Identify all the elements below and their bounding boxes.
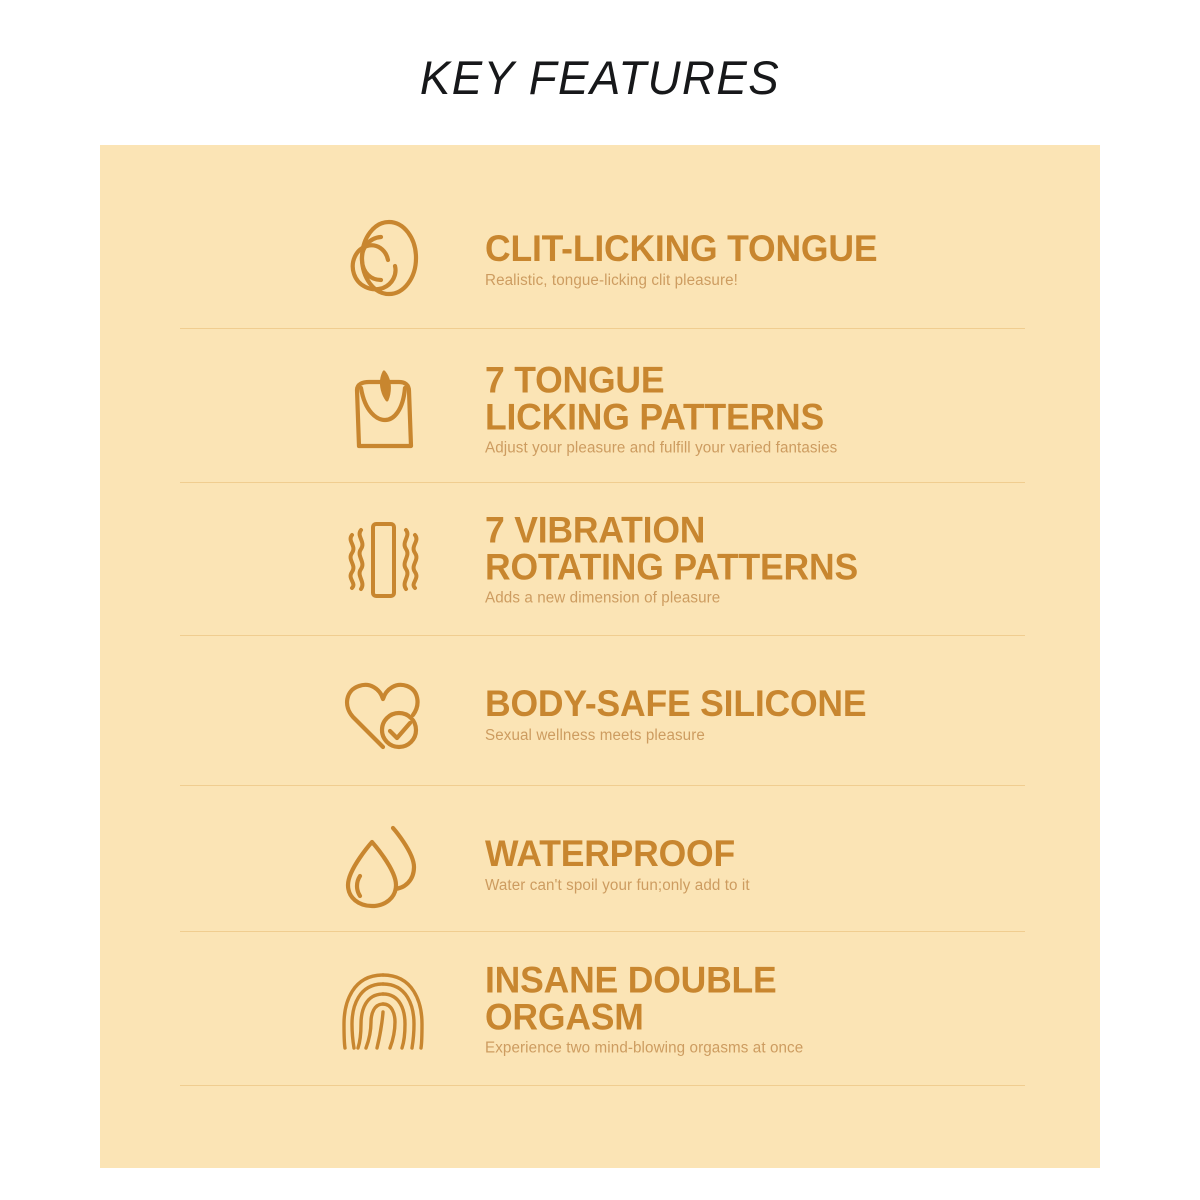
tongue-oval-icon <box>340 217 426 303</box>
vibration-bar-icon <box>340 517 426 603</box>
feature-subtitle: Sexual wellness meets pleasure <box>485 727 1073 744</box>
feature-row: BODY-SAFE SILICONE Sexual wellness meets… <box>100 640 1100 790</box>
nested-arches-icon <box>340 967 426 1053</box>
features-panel: CLIT-LICKING TONGUE Realistic, tongue-li… <box>100 145 1100 1168</box>
feature-title: CLIT-LICKING TONGUE <box>485 231 1061 268</box>
row-divider <box>180 482 1025 483</box>
feature-text: 7 VIBRATION ROTATING PATTERNS Adds a new… <box>485 513 1085 608</box>
water-droplets-icon <box>340 822 426 908</box>
row-divider <box>180 931 1025 932</box>
heart-check-icon <box>340 672 426 758</box>
feature-text: INSANE DOUBLE ORGASM Experience two mind… <box>485 963 1085 1058</box>
feature-title: WATERPROOF <box>485 836 1061 873</box>
row-divider <box>180 785 1025 786</box>
feature-row: CLIT-LICKING TONGUE Realistic, tongue-li… <box>100 185 1100 335</box>
feature-subtitle: Adds a new dimension of pleasure <box>485 590 1073 607</box>
feature-title: BODY-SAFE SILICONE <box>485 686 1061 723</box>
feature-row: WATERPROOF Water can't spoil your fun;on… <box>100 790 1100 940</box>
feature-subtitle: Water can't spoil your fun;only add to i… <box>485 877 1073 894</box>
feature-row: 7 TONGUE LICKING PATTERNS Adjust your pl… <box>100 335 1100 485</box>
page-title: KEY FEATURES <box>18 50 1182 105</box>
feature-title: 7 VIBRATION ROTATING PATTERNS <box>485 513 1061 586</box>
feature-text: BODY-SAFE SILICONE Sexual wellness meets… <box>485 686 1085 744</box>
feature-text: CLIT-LICKING TONGUE Realistic, tongue-li… <box>485 231 1085 289</box>
feature-subtitle: Experience two mind-blowing orgasms at o… <box>485 1040 1073 1057</box>
feature-text: 7 TONGUE LICKING PATTERNS Adjust your pl… <box>485 363 1085 458</box>
feature-title: INSANE DOUBLE ORGASM <box>485 963 1061 1036</box>
row-divider <box>180 1085 1025 1086</box>
feature-row: 7 VIBRATION ROTATING PATTERNS Adds a new… <box>100 485 1100 635</box>
row-divider <box>180 328 1025 329</box>
feature-text: WATERPROOF Water can't spoil your fun;on… <box>485 836 1085 894</box>
feature-subtitle: Realistic, tongue-licking clit pleasure! <box>485 272 1073 289</box>
feature-title: 7 TONGUE LICKING PATTERNS <box>485 363 1061 436</box>
row-divider <box>180 635 1025 636</box>
feature-row: INSANE DOUBLE ORGASM Experience two mind… <box>100 935 1100 1085</box>
feature-subtitle: Adjust your pleasure and fulfill your va… <box>485 440 1073 457</box>
tongue-in-cup-icon <box>340 367 426 453</box>
